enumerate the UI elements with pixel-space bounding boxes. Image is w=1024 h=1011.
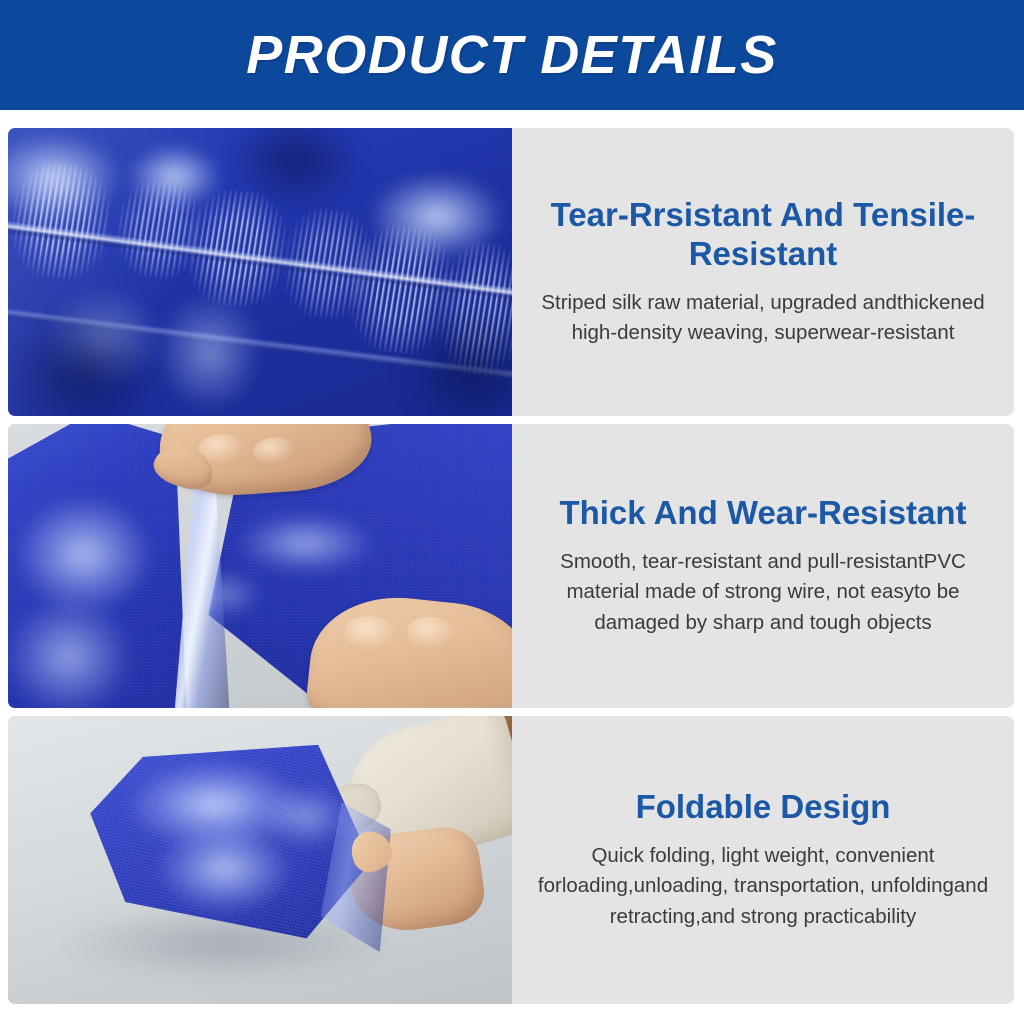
feature-body-3: Quick folding, light weight, convenient … (537, 841, 989, 932)
page-title: PRODUCT DETAILS (246, 28, 778, 82)
woven-texture-band (8, 158, 115, 283)
feature-text-panel-1: Tear-Rrsistant And Tensile-Resistant Str… (512, 128, 1014, 416)
feature-heading-2: Thick And Wear-Resistant (559, 494, 966, 533)
tarp-highlight (159, 295, 260, 410)
feature-heading-3: Foldable Design (636, 788, 891, 827)
feature-row-1: Tear-Rrsistant And Tensile-Resistant Str… (8, 128, 1014, 416)
feature-image-tear-resistant (8, 128, 512, 416)
knuckle-highlight (253, 436, 297, 466)
feature-row-3: Foldable Design Quick folding, light wei… (8, 716, 1014, 1004)
feature-body-1: Striped silk raw material, upgraded andt… (537, 288, 989, 349)
knuckle-highlight (406, 615, 458, 653)
knuckle-highlight (343, 614, 400, 655)
feature-row-2: Thick And Wear-Resistant Smooth, tear-re… (8, 424, 1014, 708)
product-details-header: PRODUCT DETAILS (0, 0, 1024, 110)
feature-text-panel-3: Foldable Design Quick folding, light wei… (512, 716, 1014, 1004)
feature-text-panel-2: Thick And Wear-Resistant Smooth, tear-re… (512, 424, 1014, 708)
tarp-highlight (159, 825, 290, 911)
feature-image-wear-resistant (8, 424, 512, 708)
feature-body-2: Smooth, tear-resistant and pull-resistan… (537, 547, 989, 638)
feature-image-foldable-design (8, 716, 512, 1004)
feature-heading-1: Tear-Rrsistant And Tensile-Resistant (530, 196, 996, 274)
